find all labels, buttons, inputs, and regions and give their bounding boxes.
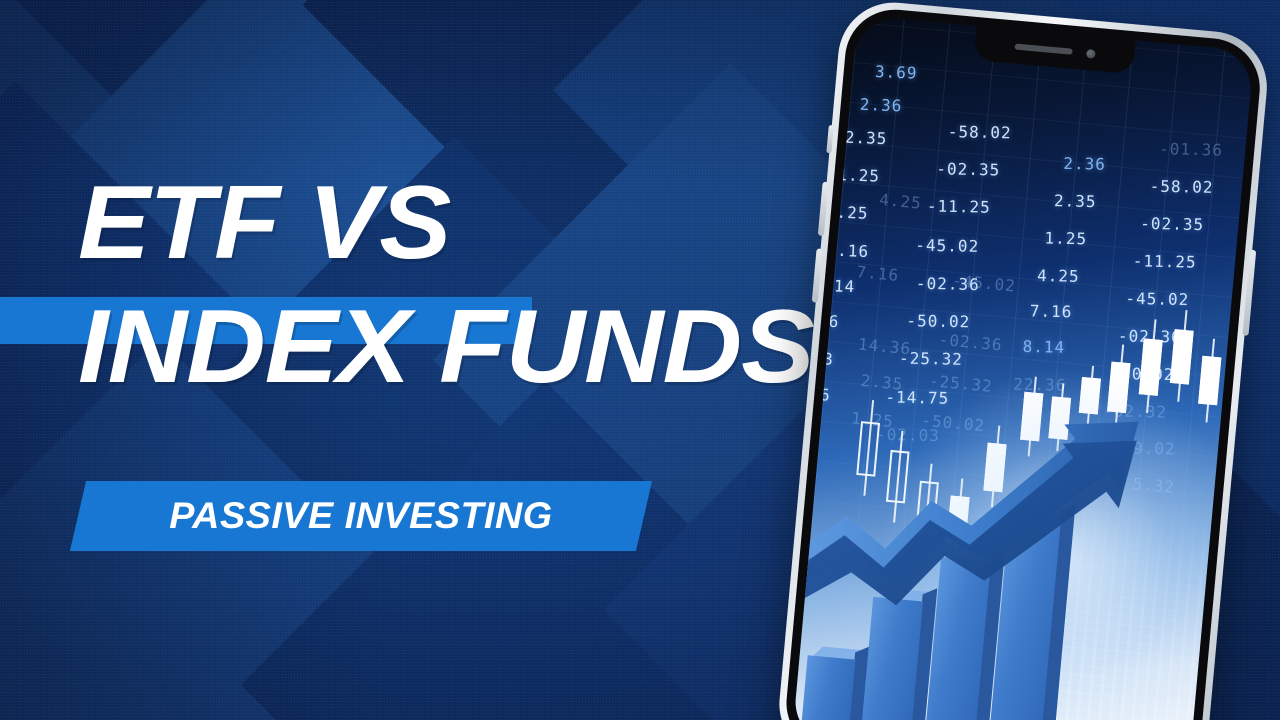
thumbnail-canvas: ETF VS INDEX FUNDS Passive Investing 3.6… [0,0,1280,720]
headline-line-2: INDEX FUNDS [78,300,814,396]
headline-line-1: ETF VS [78,176,450,272]
stock-app-content: 3.69 2.36 2.35 1.25 4.25 7.16 .14 36 13 … [792,15,1254,720]
front-camera-icon [1086,48,1096,58]
subtitle-badge-label: Passive Investing [72,481,649,551]
smartphone-mockup: 3.69 2.36 2.35 1.25 4.25 7.16 .14 36 13 … [775,0,1272,720]
upward-growth-arrow [792,15,1254,720]
phone-screen[interactable]: 3.69 2.36 2.35 1.25 4.25 7.16 .14 36 13 … [792,15,1254,720]
subtitle-badge: Passive Investing [78,481,644,551]
speaker-icon [1014,43,1072,54]
phone-bezel: 3.69 2.36 2.35 1.25 4.25 7.16 .14 36 13 … [782,5,1264,720]
